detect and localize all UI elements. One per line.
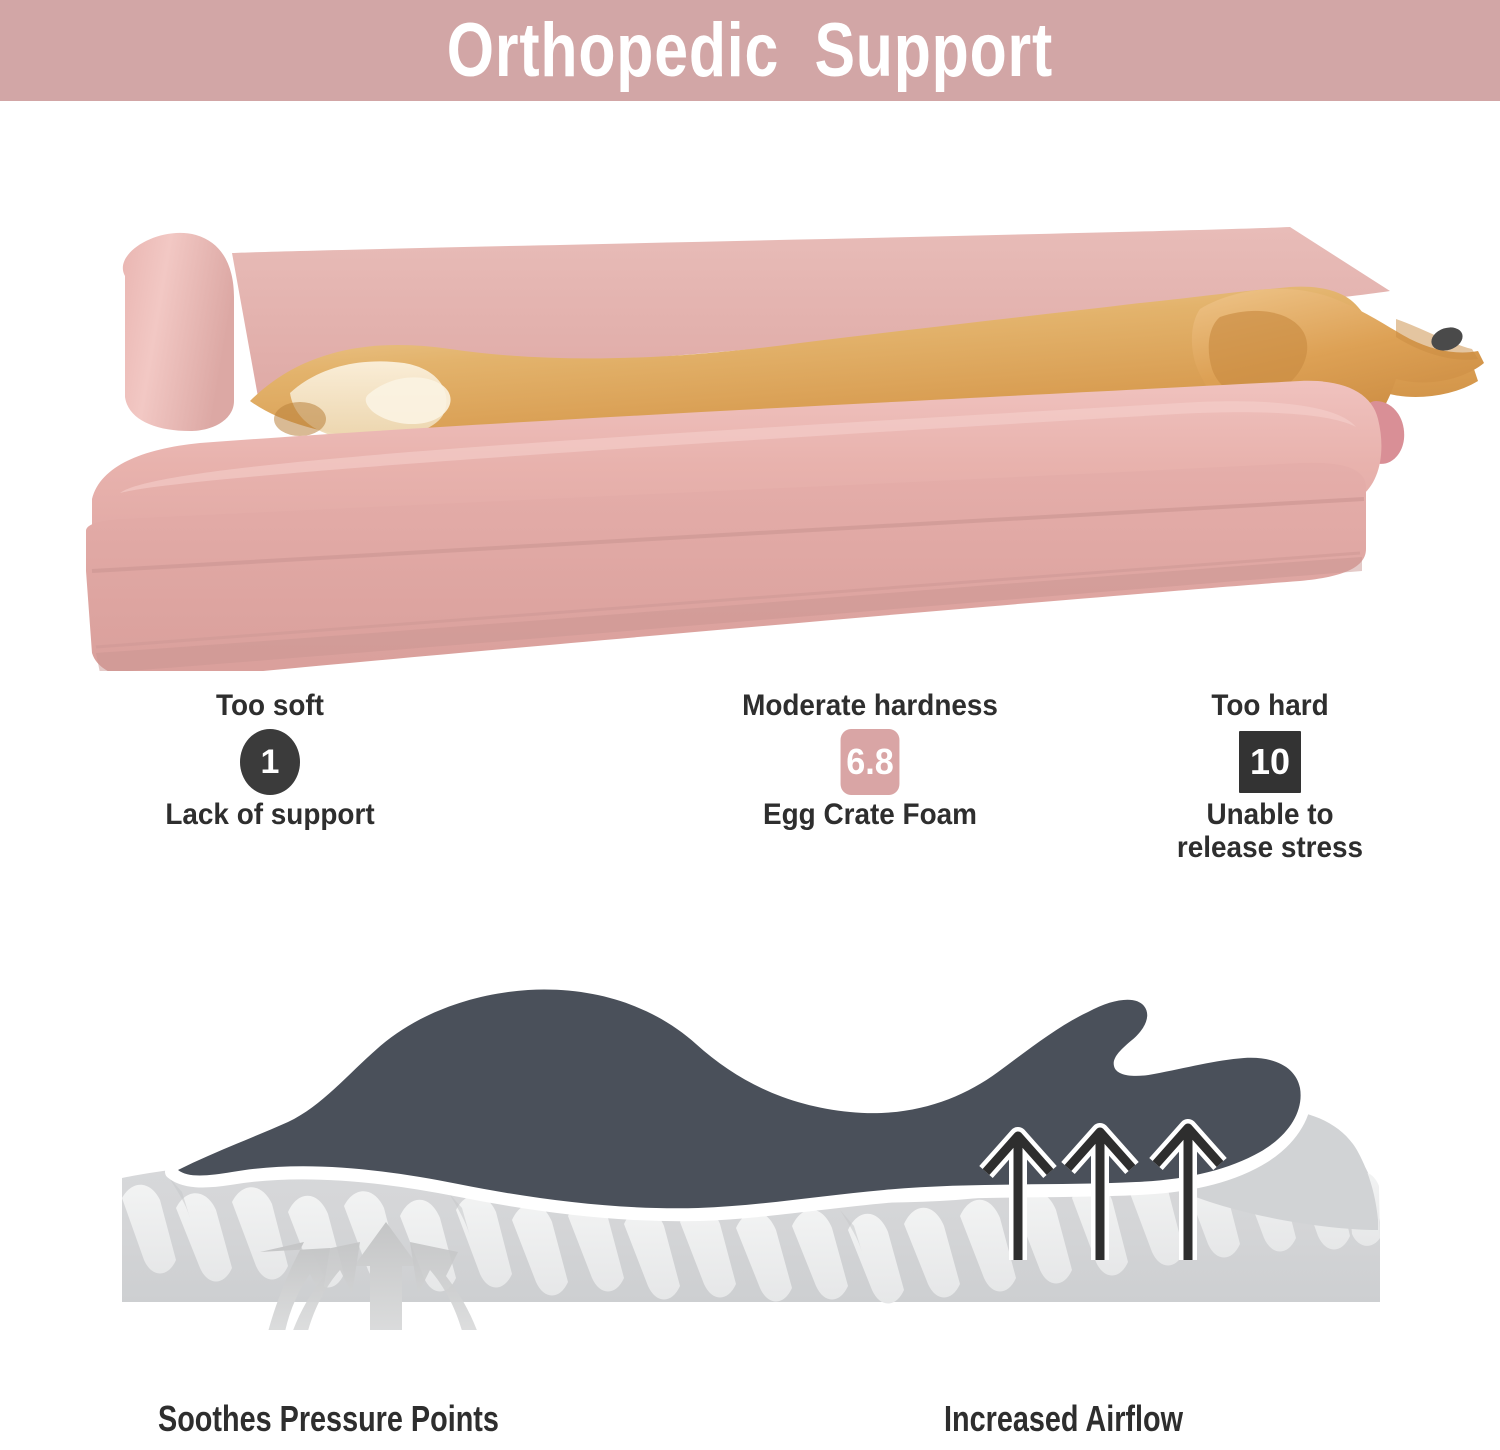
status-badge-value-6-8: 6.8 bbox=[841, 729, 900, 795]
hardness-scale: Too soft 1 Lack of support Moderate hard… bbox=[0, 690, 1500, 910]
badge-wrap-too-hard: 10 bbox=[1130, 726, 1410, 798]
hero-product-photo bbox=[0, 101, 1500, 671]
dog-bed-illustration bbox=[0, 101, 1500, 671]
infographic-page: Orthopedic Support bbox=[0, 0, 1500, 1450]
scale-node-too-hard: Too hard 10 Unable to release stress bbox=[1130, 690, 1410, 865]
caption-increased-airflow: Increased Airflow bbox=[944, 1401, 1183, 1437]
header-banner: Orthopedic Support bbox=[0, 0, 1500, 101]
scale-bottom-label-egg-crate-foam: Egg Crate Foam bbox=[712, 798, 1028, 832]
bottom-captions: Soothes Pressure Points Increased Airflo… bbox=[0, 1395, 1500, 1450]
scale-top-label-too-soft: Too soft bbox=[158, 690, 381, 722]
egg-crate-foam-illustration bbox=[0, 930, 1500, 1330]
badge-wrap-too-soft: 1 bbox=[150, 726, 390, 798]
scale-top-label-moderate-hardness: Moderate hardness bbox=[712, 690, 1028, 722]
scale-bottom-label-unable-line1: Unable to bbox=[1140, 798, 1400, 832]
foam-cross-section-diagram bbox=[0, 930, 1500, 1330]
scale-node-too-soft: Too soft 1 Lack of support bbox=[150, 690, 390, 831]
scale-bottom-label-lack-of-support: Lack of support bbox=[158, 798, 381, 832]
badge-wrap-moderate: 6.8 bbox=[700, 726, 1040, 798]
scale-node-moderate: Moderate hardness 6.8 Egg Crate Foam bbox=[700, 690, 1040, 831]
page-title: Orthopedic Support bbox=[447, 13, 1053, 89]
status-badge-value-10: 10 bbox=[1239, 731, 1301, 793]
caption-soothes-pressure-points: Soothes Pressure Points bbox=[158, 1401, 499, 1437]
status-badge-value-1: 1 bbox=[240, 729, 300, 795]
scale-top-label-too-hard: Too hard bbox=[1140, 690, 1400, 722]
scale-bottom-label-unable-line2: release stress bbox=[1140, 831, 1400, 865]
